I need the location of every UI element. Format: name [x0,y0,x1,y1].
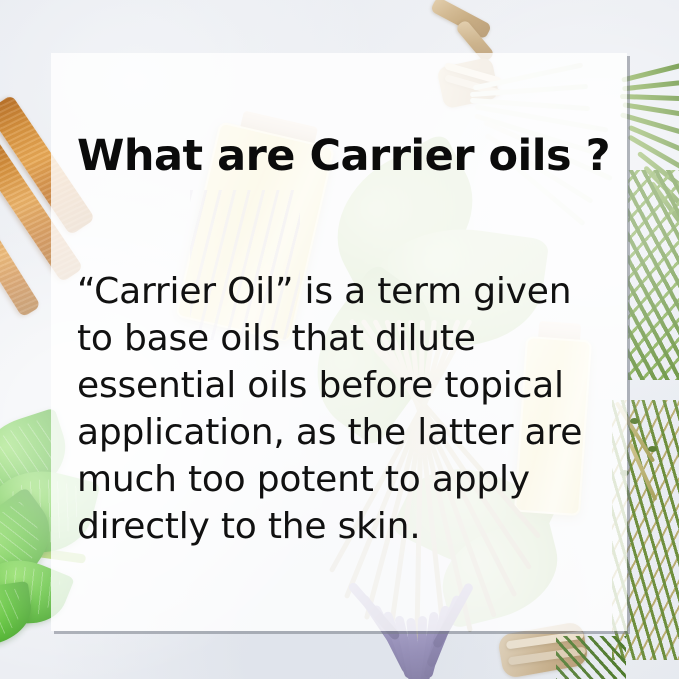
twine-wrap [506,631,584,650]
cinnamon-stick [0,204,41,317]
thyme-leaf [630,418,639,424]
body-line: essential oils before topical [77,362,617,409]
twine-tie [430,0,492,40]
body-line: directly to the skin. [77,503,617,550]
body-line: “Carrier Oil” is a term given [77,268,617,315]
thyme-leaf [648,446,657,452]
body-line: application, as the latter are [77,409,617,456]
infographic-card: What are Carrier oils ? “Carrier Oil” is… [0,0,679,679]
card-content: What are Carrier oils ? “Carrier Oil” is… [51,53,627,631]
page-title: What are Carrier oils ? [77,131,607,181]
thyme-stem [629,443,658,501]
body-line: to base oils that dilute [77,315,617,362]
twine-wrap [508,647,586,666]
mint-stem [0,596,40,610]
rosemary-needles [628,170,679,380]
thyme-leaves [556,636,626,679]
body-line: much too potent to apply [77,456,617,503]
body-paragraph: “Carrier Oil” is a term given to base oi… [77,268,617,550]
mint-leaf [0,581,36,649]
